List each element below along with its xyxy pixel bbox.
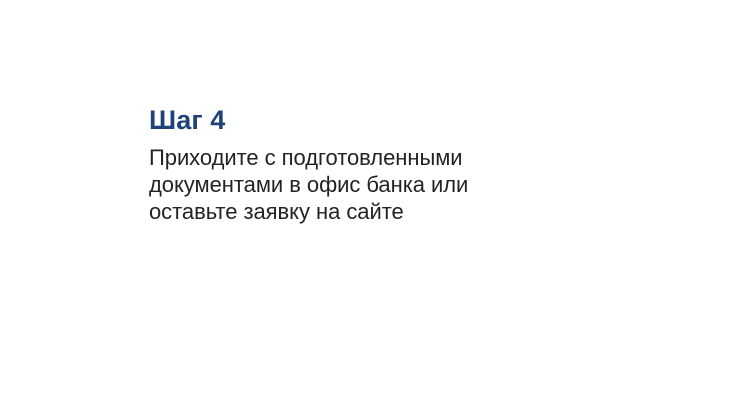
step-description-line-2: документами в офис банка или bbox=[149, 171, 619, 198]
slide-canvas: Шаг 4 Приходите с подготовленными докуме… bbox=[0, 0, 751, 403]
step-heading: Шаг 4 bbox=[149, 104, 619, 137]
step-description: Приходите с подготовленными документами … bbox=[149, 144, 619, 225]
step-text-block: Шаг 4 Приходите с подготовленными докуме… bbox=[149, 104, 619, 225]
step-description-line-3: оставьте заявку на сайте bbox=[149, 198, 619, 225]
step-description-line-1: Приходите с подготовленными bbox=[149, 144, 619, 171]
